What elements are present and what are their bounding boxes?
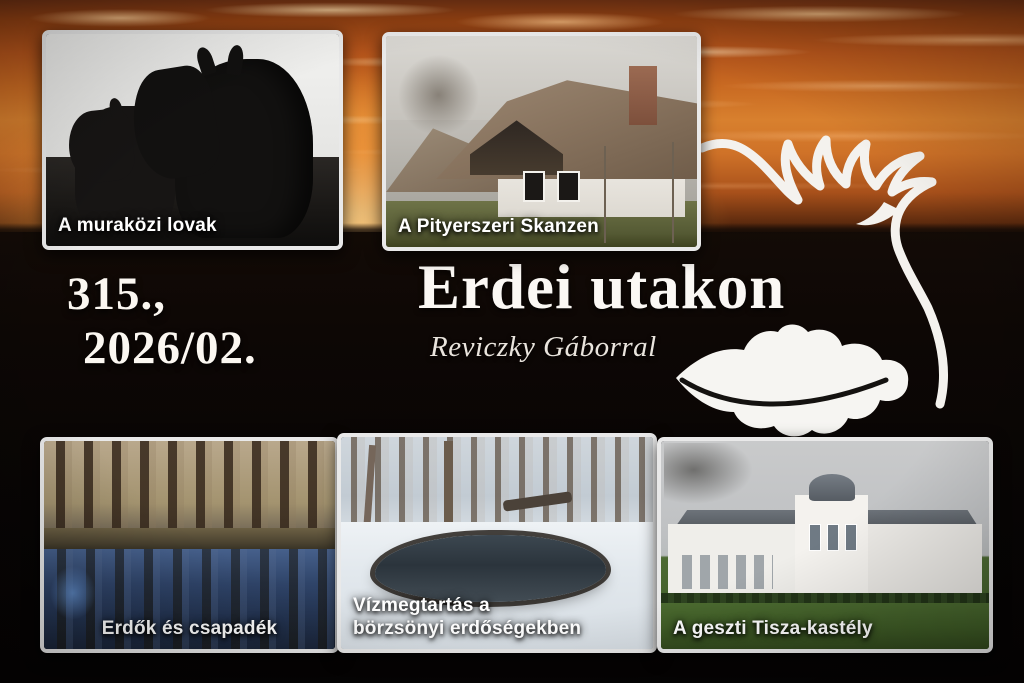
segment-card-erdok[interactable]: Erdők és csapadék [40, 437, 339, 653]
program-title-block: Erdei utakon Reviczky Gáborral [418, 256, 888, 364]
segment-caption-vizmegtartas-line2: börzsönyi erdőségekben [353, 618, 641, 640]
page-title: Erdei utakon [418, 256, 888, 319]
episode-number: 315., 2026/02. [67, 267, 367, 375]
segment-card-geszti[interactable]: A geszti Tisza-kastély [657, 437, 993, 653]
program-subtitle: Reviczky Gáborral [430, 331, 888, 364]
segment-card-horses[interactable]: A muraközi lovak [42, 30, 343, 250]
segment-caption-horses: A muraközi lovak [46, 208, 339, 246]
episode-number-line2: 2026/02. [83, 321, 367, 375]
segment-caption-vizmegtartas-line1: Vízmegtartás a [353, 595, 641, 617]
program-title-card: Erdei utakon Reviczky Gáborral 315., 202… [0, 0, 1024, 683]
segment-card-skanzen[interactable]: A Pityerszeri Skanzen [382, 32, 701, 251]
segment-caption-erdok: Erdők és csapadék [44, 611, 335, 649]
segment-caption-skanzen: A Pityerszeri Skanzen [386, 209, 697, 247]
segment-caption-geszti: A geszti Tisza-kastély [661, 611, 989, 649]
segment-card-vizmegtartas[interactable]: Vízmegtartás a börzsönyi erdőségekben [337, 433, 657, 653]
episode-number-line1: 315., [67, 268, 166, 320]
segment-caption-vizmegtartas: Vízmegtartás a börzsönyi erdőségekben [341, 588, 653, 649]
